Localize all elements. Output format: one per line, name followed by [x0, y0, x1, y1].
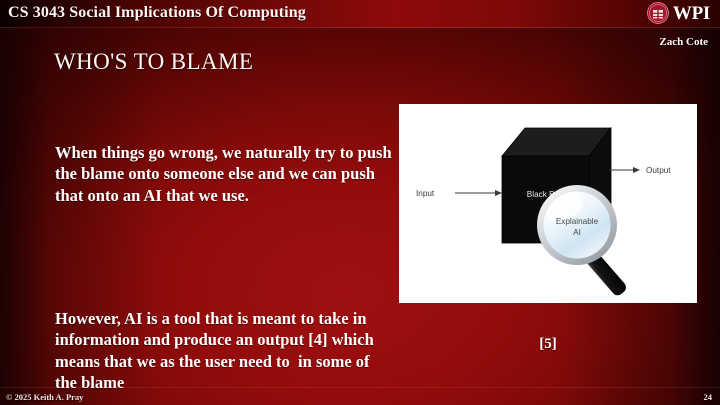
- figure-panel: Black Box Input Output Explainable AI: [399, 104, 697, 303]
- output-label: Output: [646, 166, 671, 175]
- presentation-slide: CS 3043 Social Implications Of Computing…: [0, 0, 720, 405]
- black-box-diagram: Black Box Input Output Explainable AI: [399, 104, 697, 303]
- explainable-ai-label-line1: Explainable: [556, 217, 599, 226]
- input-label: Input: [416, 189, 435, 198]
- wpi-seal-icon: [647, 2, 669, 24]
- paragraph-spacer: [55, 249, 395, 265]
- explainable-ai-label-line2: AI: [573, 228, 581, 237]
- figure-citation: [5]: [399, 336, 697, 353]
- body-paragraph-1: When things go wrong, we naturally try t…: [55, 142, 395, 206]
- copyright-notice: © 2025 Keith A. Pray: [6, 392, 83, 402]
- wpi-wordmark: WPI: [673, 4, 710, 23]
- body-paragraph-2: However, AI is a tool that is meant to t…: [55, 308, 395, 394]
- author-name: Zach Cote: [659, 36, 708, 48]
- wpi-logo: WPI: [647, 2, 710, 24]
- course-title: CS 3043 Social Implications Of Computing: [8, 4, 306, 22]
- slide-body-text: When things go wrong, we naturally try t…: [55, 99, 395, 405]
- slide-title: WHO'S TO BLAME: [54, 49, 253, 75]
- slide-number: 24: [704, 392, 713, 402]
- slide-footer-bar: [0, 387, 720, 405]
